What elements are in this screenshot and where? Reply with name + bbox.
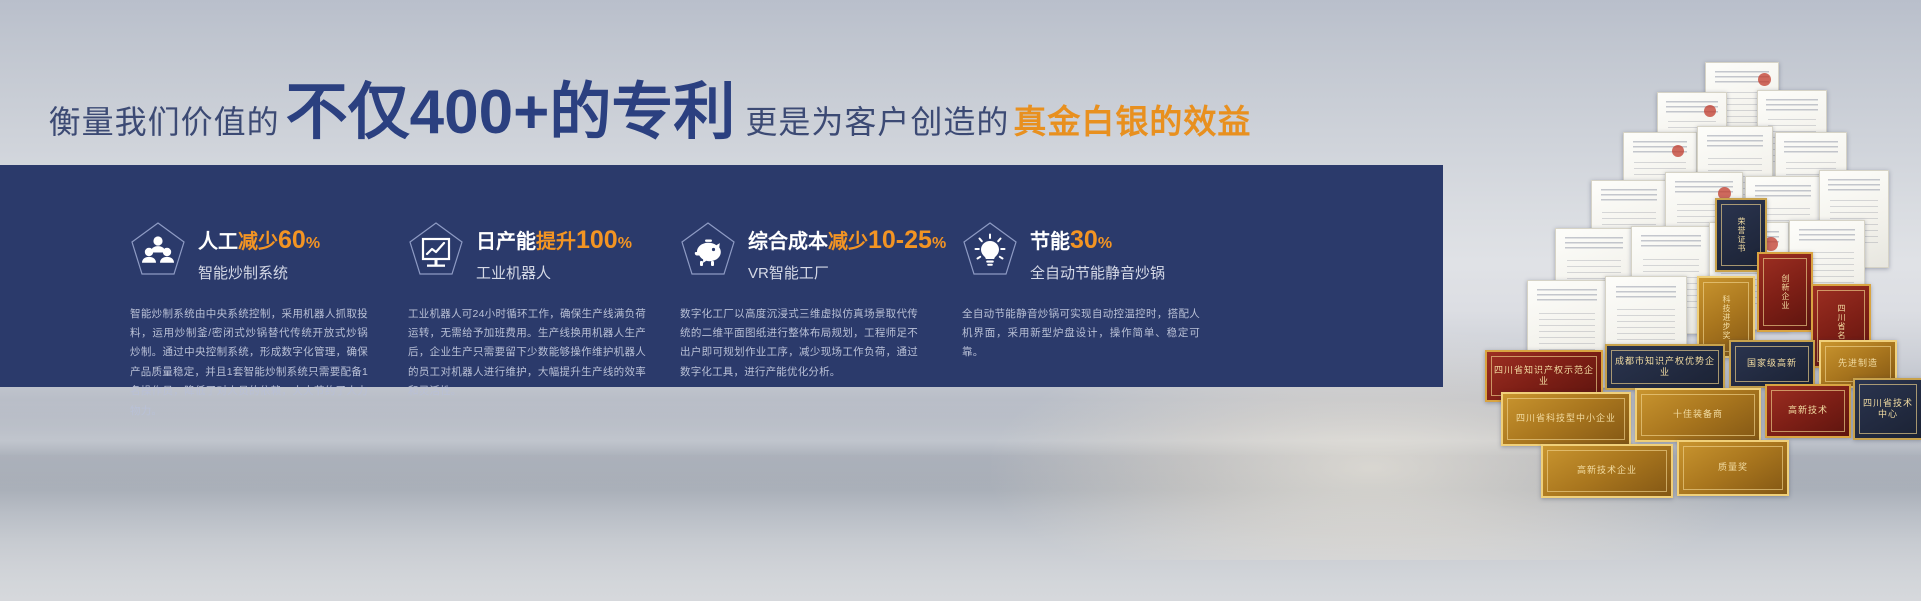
feature-header: 人工减少60% 智能炒制系统 [130,223,430,283]
feature-titles: 日产能提升100% 工业机器人 [476,223,632,283]
plaque-inscription: 十佳装备商 [1641,394,1755,436]
feature-description: 智能炒制系统由中央系统控制，采用机器人抓取投料，运用炒制釜/密闭式炒锅替代传统开… [130,305,368,422]
feature-title-unit: % [1098,235,1112,252]
feature-title-prefix: 人工 [198,231,238,253]
feature-title: 日产能提升100% [476,231,632,253]
chart-board-icon [408,221,464,279]
feature-title-accent: 减少 [238,231,278,253]
feature-title: 节能30% [1030,231,1112,253]
feature-subtitle: 智能炒制系统 [198,262,320,283]
feature-titles: 节能30% 全自动节能静音炒锅 [1030,223,1165,283]
features-container: 人工减少60% 智能炒制系统 智能炒制系统由中央系统控制，采用机器人抓取投料，运… [0,165,1443,387]
feature-title-unit: % [932,235,946,252]
plaque-inscription: 荣誉证书 [1721,204,1761,266]
headline-middle: 更是为客户创造的 [745,97,1009,143]
headline: 衡量我们价值的 不仅400+的专利 更是为客户创造的 真金白银的效益 [0,82,1300,138]
headline-lead: 衡量我们价值的 [49,97,280,143]
feature-header: 综合成本减少10-25% VR智能工厂 [680,223,980,283]
feature-subtitle: 全自动节能静音炒锅 [1030,262,1165,283]
award-plaque: 国家级高新 [1729,340,1815,388]
feature-card-2[interactable]: 日产能提升100% 工业机器人 工业机器人可24小时循环工作，确保生产线满负荷运… [408,165,708,387]
feature-subtitle: 工业机器人 [476,262,632,283]
plaque-inscription: 质量奖 [1683,446,1783,490]
promo-banner: 荣誉证书 创新企业 科技进步奖 四川省名企 成都市知识产权优势企业 国家级高新 … [0,0,1921,601]
feature-card-4[interactable]: 节能30% 全自动节能静音炒锅 全自动节能静音炒锅可实现自动控温控时，搭配人机界… [962,165,1262,387]
headline-accent: 真金白银的效益 [1013,95,1251,143]
feature-header: 节能30% 全自动节能静音炒锅 [962,223,1262,283]
feature-title-unit: % [618,235,632,252]
piggy-bank-icon [680,221,736,279]
award-plaque: 成都市知识产权优势企业 [1605,344,1725,390]
award-plaque: 高新技术企业 [1541,444,1673,498]
feature-title-number: 30 [1070,226,1098,254]
award-plaque: 四川省科技型中小企业 [1501,392,1631,446]
lightbulb-icon [962,221,1018,279]
feature-title-prefix: 节能 [1030,231,1070,253]
award-plaque: 十佳装备商 [1635,388,1761,442]
feature-title: 综合成本减少10-25% [748,231,946,253]
feature-titles: 综合成本减少10-25% VR智能工厂 [748,223,946,283]
award-plaque: 四川省技术中心 [1853,378,1921,440]
plaque-inscription: 成都市知识产权优势企业 [1611,350,1719,384]
feature-header: 日产能提升100% 工业机器人 [408,223,708,283]
plaque-inscription: 四川省技术中心 [1859,384,1917,434]
feature-title: 人工减少60% [198,231,320,253]
feature-title-prefix: 综合成本 [748,231,828,253]
feature-title-unit: % [306,235,320,252]
plaque-inscription: 高新技术企业 [1547,450,1667,492]
feature-title-number: 10-25 [868,226,932,254]
feature-card-3[interactable]: 综合成本减少10-25% VR智能工厂 数字化工厂以高度沉浸式三维虚拟仿真场景取… [680,165,980,387]
award-plaque: 高新技术 [1765,384,1851,438]
plaque-inscription: 创新企业 [1763,258,1807,326]
plaque-inscription: 四川省知识产权示范企业 [1491,356,1597,396]
feature-title-accent: 减少 [828,231,868,253]
award-plaque: 质量奖 [1677,440,1789,496]
people-group-icon [130,221,186,279]
feature-description: 全自动节能静音炒锅可实现自动控温控时，搭配人机界面，采用新型炉盘设计，操作简单、… [962,305,1200,363]
headline-emphasis: 不仅400+的专利 [286,82,736,144]
feature-title-prefix: 日产能 [476,231,536,253]
feature-titles: 人工减少60% 智能炒制系统 [198,223,320,283]
award-plaque: 创新企业 [1757,252,1813,332]
plaque-inscription: 四川省科技型中小企业 [1507,398,1625,440]
feature-subtitle: VR智能工厂 [748,262,946,283]
feature-title-accent: 提升 [536,231,576,253]
feature-description: 工业机器人可24小时循环工作，确保生产线满负荷运转，无需给予加班费用。生产线换用… [408,305,646,402]
feature-card-1[interactable]: 人工减少60% 智能炒制系统 智能炒制系统由中央系统控制，采用机器人抓取投料，运… [130,165,430,387]
feature-description: 数字化工厂以高度沉浸式三维虚拟仿真场景取代传统的二维平面图纸进行整体布局规划，工… [680,305,918,383]
feature-title-number: 100 [576,226,618,254]
feature-title-number: 60 [278,226,306,254]
plaque-inscription: 国家级高新 [1735,346,1809,382]
plaque-inscription: 先进制造 [1825,346,1891,382]
plaque-inscription: 高新技术 [1771,390,1845,432]
